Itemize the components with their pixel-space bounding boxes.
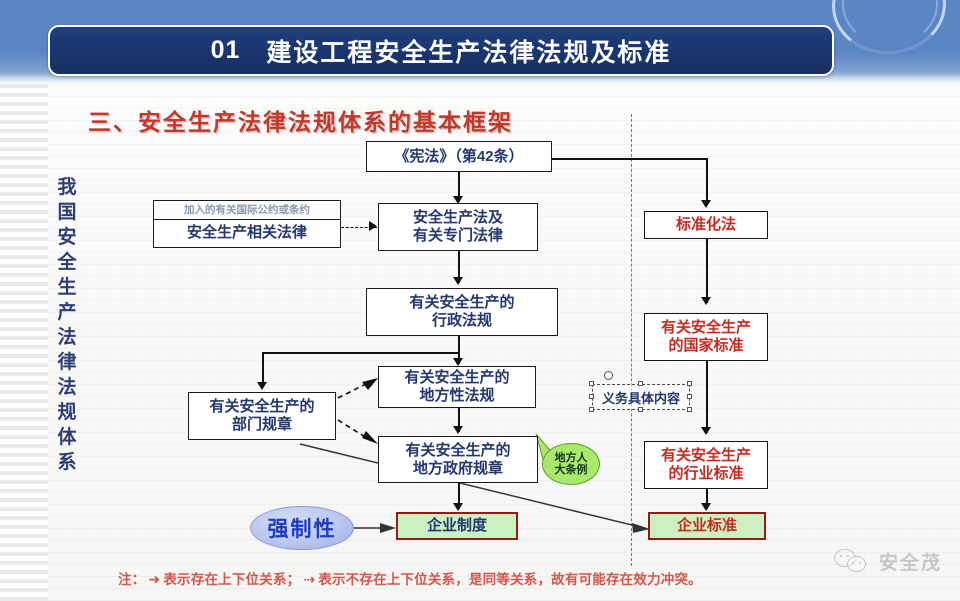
arrow-down-local-gov-rules	[453, 426, 463, 434]
node-related-laws-sub: 加入的有关国际公约或条约	[154, 203, 340, 220]
connector-admin-branch-left	[262, 352, 458, 354]
legend-note: 注：➜表示存在上下位关系；⇢表示不存在上下位关系，是同等关系，故有可能存在效力冲…	[118, 568, 702, 588]
arrow-down-enterprise-standards	[701, 503, 711, 511]
arrow-dept-to-local-regs	[362, 378, 378, 390]
node-national-standards-line1: 有关安全生产	[661, 319, 751, 337]
sidebar-char: 国	[52, 200, 82, 225]
node-standardization-law-label: 标准化法	[676, 216, 736, 234]
node-constitution-label: 《宪法》（第42条）	[394, 148, 523, 166]
sidebar-char: 安	[52, 225, 82, 250]
connector-branch-to-dept	[262, 352, 264, 386]
callout-line1: 地方人	[555, 452, 588, 464]
callout-local-people-congress[interactable]: 地方人 大条例	[542, 443, 600, 485]
resize-handle-se[interactable]	[687, 407, 692, 412]
subtitle: 三、安全生产法律法规体系的基本框架	[88, 103, 513, 137]
connector-national-to-industry	[706, 361, 708, 433]
badge-mandatory[interactable]: 强制性	[250, 506, 354, 550]
sidebar-char: 我	[52, 175, 82, 200]
arrow-down-enterprise-system	[453, 503, 463, 511]
connector-constitution-to-standard	[549, 158, 707, 160]
sidebar-char: 系	[52, 450, 82, 475]
arrow-badge-to-enterprise	[380, 523, 396, 533]
node-admin-regulations-line2: 行政法规	[432, 312, 492, 330]
node-local-government-rules-line2: 地方政府规章	[413, 460, 503, 478]
node-standardization-law[interactable]: 标准化法	[644, 211, 768, 239]
node-industry-standards[interactable]: 有关安全生产 的行业标准	[644, 441, 768, 489]
legend-part1: 表示存在上下位关系；	[163, 572, 300, 587]
node-safety-law-line1: 安全生产法及	[413, 209, 503, 227]
node-department-rules-line2: 部门规章	[232, 416, 292, 434]
title-plate: 01 建设工程安全生产法律法规及标准	[48, 25, 834, 76]
dashed-arrow-icon: ⇢	[300, 571, 318, 587]
left-stripe-decoration	[0, 84, 48, 601]
sidebar-char: 法	[52, 325, 82, 350]
node-enterprise-standards[interactable]: 企业标准	[648, 512, 766, 540]
slide-canvas: 01 建设工程安全生产法律法规及标准 三、安全生产法律法规体系的基本框架 我 国…	[0, 0, 960, 601]
page-title: 建设工程安全生产法律法规及标准	[266, 33, 671, 69]
dashed-dept-to-local-regs	[338, 382, 370, 398]
resize-handle-sw[interactable]	[589, 407, 594, 412]
node-safety-law-line2: 有关专门法律	[413, 227, 503, 245]
sidebar-vertical-label: 我 国 安 全 生 产 法 律 法 规 体 系	[52, 175, 82, 475]
watermark: 安全茂	[834, 548, 942, 575]
node-local-government-rules-line1: 有关安全生产的	[405, 442, 510, 460]
node-enterprise-standards-label: 企业标准	[677, 517, 737, 535]
node-department-rules[interactable]: 有关安全生产的 部门规章	[188, 392, 336, 440]
node-safety-law[interactable]: 安全生产法及 有关专门法律	[378, 203, 538, 251]
arrow-down-standardization	[701, 200, 711, 208]
section-number: 01	[211, 36, 241, 65]
node-admin-regulations-line1: 有关安全生产的	[409, 294, 514, 312]
node-local-regulations-line1: 有关安全生产的	[404, 369, 509, 387]
rotate-handle[interactable]	[604, 371, 613, 380]
node-industry-standards-line1: 有关安全生产	[661, 447, 751, 465]
resize-handle-s[interactable]	[638, 407, 643, 412]
arrow-down-admin-regs	[453, 277, 463, 285]
sidebar-char: 体	[52, 425, 82, 450]
node-enterprise-system[interactable]: 企业制度	[396, 512, 518, 540]
resize-handle-ne[interactable]	[687, 381, 692, 386]
annotation-obligation-label: 义务具体内容	[602, 388, 680, 407]
node-related-laws-label: 安全生产相关法律	[187, 220, 307, 245]
node-local-regulations[interactable]: 有关安全生产的 地方性法规	[378, 366, 536, 408]
resize-handle-nw[interactable]	[589, 381, 594, 386]
node-constitution[interactable]: 《宪法》（第42条）	[366, 141, 552, 172]
node-department-rules-line1: 有关安全生产的	[209, 398, 314, 416]
arrow-down-industry-standards	[701, 427, 711, 435]
resize-handle-n[interactable]	[638, 381, 643, 386]
connector-standard-down	[706, 158, 708, 204]
node-local-regulations-line2: 地方性法规	[419, 387, 494, 405]
vertical-divider	[631, 114, 632, 566]
callout-line2: 大条例	[555, 464, 588, 476]
sidebar-char: 规	[52, 400, 82, 425]
legend-prefix: 注：	[118, 572, 145, 587]
badge-mandatory-label: 强制性	[268, 513, 337, 543]
resize-handle-e[interactable]	[687, 394, 692, 399]
arrow-down-national-standards	[701, 297, 711, 305]
node-national-standards-line2: 的国家标准	[668, 337, 743, 355]
node-related-laws[interactable]: 加入的有关国际公约或条约 安全生产相关法律	[153, 200, 341, 248]
sidebar-char: 产	[52, 300, 82, 325]
wechat-logo-icon	[834, 549, 872, 575]
sidebar-char: 全	[52, 250, 82, 275]
node-national-standards[interactable]: 有关安全生产 的国家标准	[644, 313, 768, 361]
sidebar-char: 生	[52, 275, 82, 300]
dashed-dept-to-gov-rules	[338, 420, 370, 440]
resize-handle-w[interactable]	[589, 394, 594, 399]
legend-part2: 表示不存在上下位关系，是同等关系，故有可能存在效力冲突。	[318, 572, 702, 587]
arrow-right-safety-law	[369, 221, 377, 231]
sidebar-char: 律	[52, 350, 82, 375]
node-local-government-rules[interactable]: 有关安全生产的 地方政府规章	[378, 436, 538, 483]
node-industry-standards-line2: 的行业标准	[668, 465, 743, 483]
arrow-down-dept-rules	[257, 382, 267, 390]
node-enterprise-system-label: 企业制度	[427, 517, 487, 535]
arrow-dept-to-gov-rules	[362, 431, 378, 444]
solid-arrow-icon: ➜	[145, 571, 163, 587]
node-admin-regulations[interactable]: 有关安全生产的 行政法规	[366, 288, 558, 336]
connector-standard-law-to-national	[706, 239, 708, 303]
watermark-label: 安全茂	[879, 548, 942, 575]
sidebar-char: 法	[52, 375, 82, 400]
arrow-down-local-regs	[453, 358, 463, 366]
